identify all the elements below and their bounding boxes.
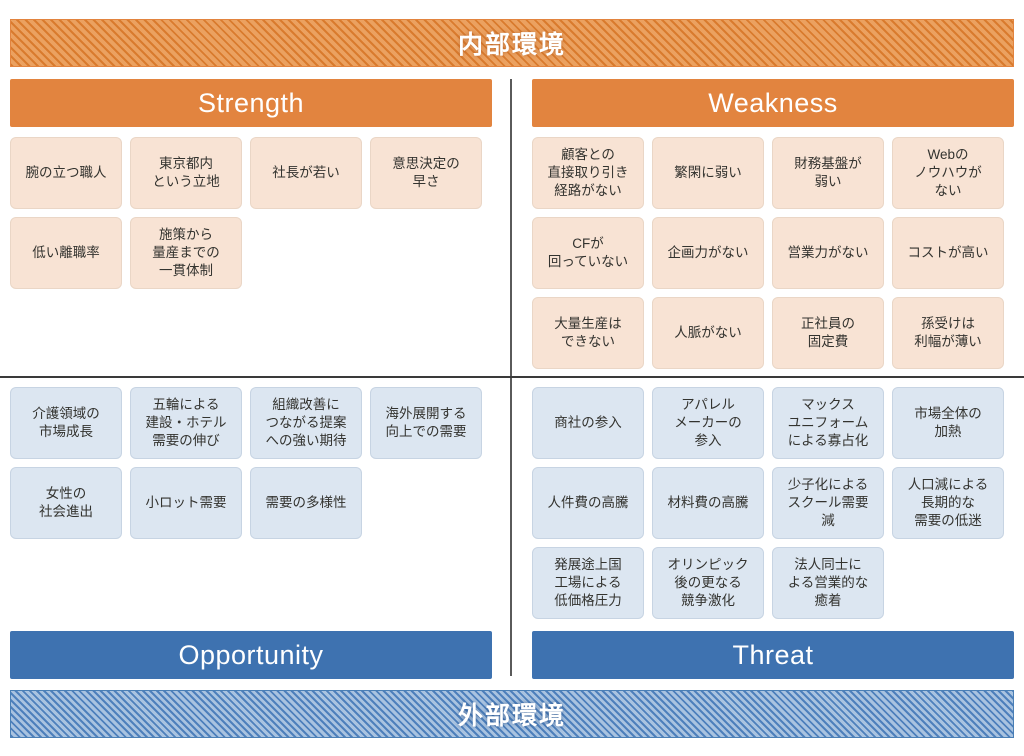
swot-card[interactable]: 東京都内 という立地 [130,137,242,209]
swot-card[interactable]: 低い離職率 [10,217,122,289]
swot-card[interactable]: 財務基盤が 弱い [772,137,884,209]
swot-card[interactable]: CFが 回っていない [532,217,644,289]
swot-card[interactable]: 需要の多様性 [250,467,362,539]
opportunity-card-grid: 介護領域の 市場成長五輪による 建設・ホテル 需要の伸び組織改善に つながる提案… [10,387,492,539]
swot-card[interactable]: オリンピック 後の更なる 競争激化 [652,547,764,619]
swot-card[interactable]: 大量生産は できない [532,297,644,369]
card-row: 女性の 社会進出小ロット需要需要の多様性 [10,467,492,539]
swot-card[interactable]: 女性の 社会進出 [10,467,122,539]
card-row: CFが 回っていない企画力がない営業力がないコストが高い [532,217,1014,289]
swot-card[interactable]: 小ロット需要 [130,467,242,539]
swot-card[interactable]: 介護領域の 市場成長 [10,387,122,459]
swot-card[interactable]: 人件費の高騰 [532,467,644,539]
opportunity-title-label: Opportunity [178,640,323,671]
card-row: 介護領域の 市場成長五輪による 建設・ホテル 需要の伸び組織改善に つながる提案… [10,387,492,459]
card-row: 大量生産は できない人脈がない正社員の 固定費孫受けは 利幅が薄い [532,297,1014,369]
swot-card[interactable]: 正社員の 固定費 [772,297,884,369]
card-row: 腕の立つ職人東京都内 という立地社長が若い意思決定の 早さ [10,137,492,209]
internal-environment-label: 内部環境 [458,25,566,61]
strength-card-grid: 腕の立つ職人東京都内 という立地社長が若い意思決定の 早さ低い離職率施策から 量… [10,137,492,289]
swot-card[interactable]: 商社の参入 [532,387,644,459]
swot-card[interactable]: 孫受けは 利幅が薄い [892,297,1004,369]
swot-card[interactable]: 意思決定の 早さ [370,137,482,209]
card-row: 発展途上国 工場による 低価格圧力オリンピック 後の更なる 競争激化法人同士に … [532,547,1014,619]
swot-card[interactable]: コストが高い [892,217,1004,289]
swot-card[interactable]: マックス ユニフォーム による寡占化 [772,387,884,459]
card-row: 商社の参入アパレル メーカーの 参入マックス ユニフォーム による寡占化市場全体… [532,387,1014,459]
swot-card[interactable]: 組織改善に つながる提案 への強い期待 [250,387,362,459]
external-environment-banner: 外部環境 [10,690,1014,738]
swot-card[interactable]: 市場全体の 加熱 [892,387,1004,459]
weakness-title-label: Weakness [708,88,838,119]
swot-card[interactable]: 人脈がない [652,297,764,369]
swot-card[interactable]: 営業力がない [772,217,884,289]
swot-card[interactable]: 少子化による スクール需要 減 [772,467,884,539]
swot-card[interactable]: 企画力がない [652,217,764,289]
swot-card[interactable]: 海外展開する 向上での需要 [370,387,482,459]
weakness-card-grid: 顧客との 直接取り引き 経路がない繁閑に弱い財務基盤が 弱いWebの ノウハウが… [532,137,1014,369]
card-row: 人件費の高騰材料費の高騰少子化による スクール需要 減人口減による 長期的な 需… [532,467,1014,539]
swot-card[interactable]: 腕の立つ職人 [10,137,122,209]
card-row: 低い離職率施策から 量産までの 一貫体制 [10,217,492,289]
swot-card[interactable]: 五輪による 建設・ホテル 需要の伸び [130,387,242,459]
weakness-title-bar[interactable]: Weakness [532,79,1014,127]
swot-card[interactable]: Webの ノウハウが ない [892,137,1004,209]
swot-card[interactable]: 施策から 量産までの 一貫体制 [130,217,242,289]
swot-card[interactable]: アパレル メーカーの 参入 [652,387,764,459]
horizontal-divider [0,376,1024,378]
threat-card-grid: 商社の参入アパレル メーカーの 参入マックス ユニフォーム による寡占化市場全体… [532,387,1014,619]
swot-card[interactable]: 法人同士に よる営業的な 癒着 [772,547,884,619]
strength-title-bar[interactable]: Strength [10,79,492,127]
opportunity-title-bar[interactable]: Opportunity [10,631,492,679]
external-environment-label: 外部環境 [458,696,566,732]
internal-environment-banner: 内部環境 [10,19,1014,67]
swot-card[interactable]: 材料費の高騰 [652,467,764,539]
swot-card[interactable]: 顧客との 直接取り引き 経路がない [532,137,644,209]
threat-title-label: Threat [732,640,813,671]
swot-card[interactable]: 社長が若い [250,137,362,209]
swot-card[interactable]: 繁閑に弱い [652,137,764,209]
threat-title-bar[interactable]: Threat [532,631,1014,679]
swot-card[interactable]: 発展途上国 工場による 低価格圧力 [532,547,644,619]
swot-card[interactable]: 人口減による 長期的な 需要の低迷 [892,467,1004,539]
card-row: 顧客との 直接取り引き 経路がない繁閑に弱い財務基盤が 弱いWebの ノウハウが… [532,137,1014,209]
strength-title-label: Strength [198,88,304,119]
swot-canvas: 内部環境 Strength Weakness 腕の立つ職人東京都内 という立地社… [0,0,1024,756]
